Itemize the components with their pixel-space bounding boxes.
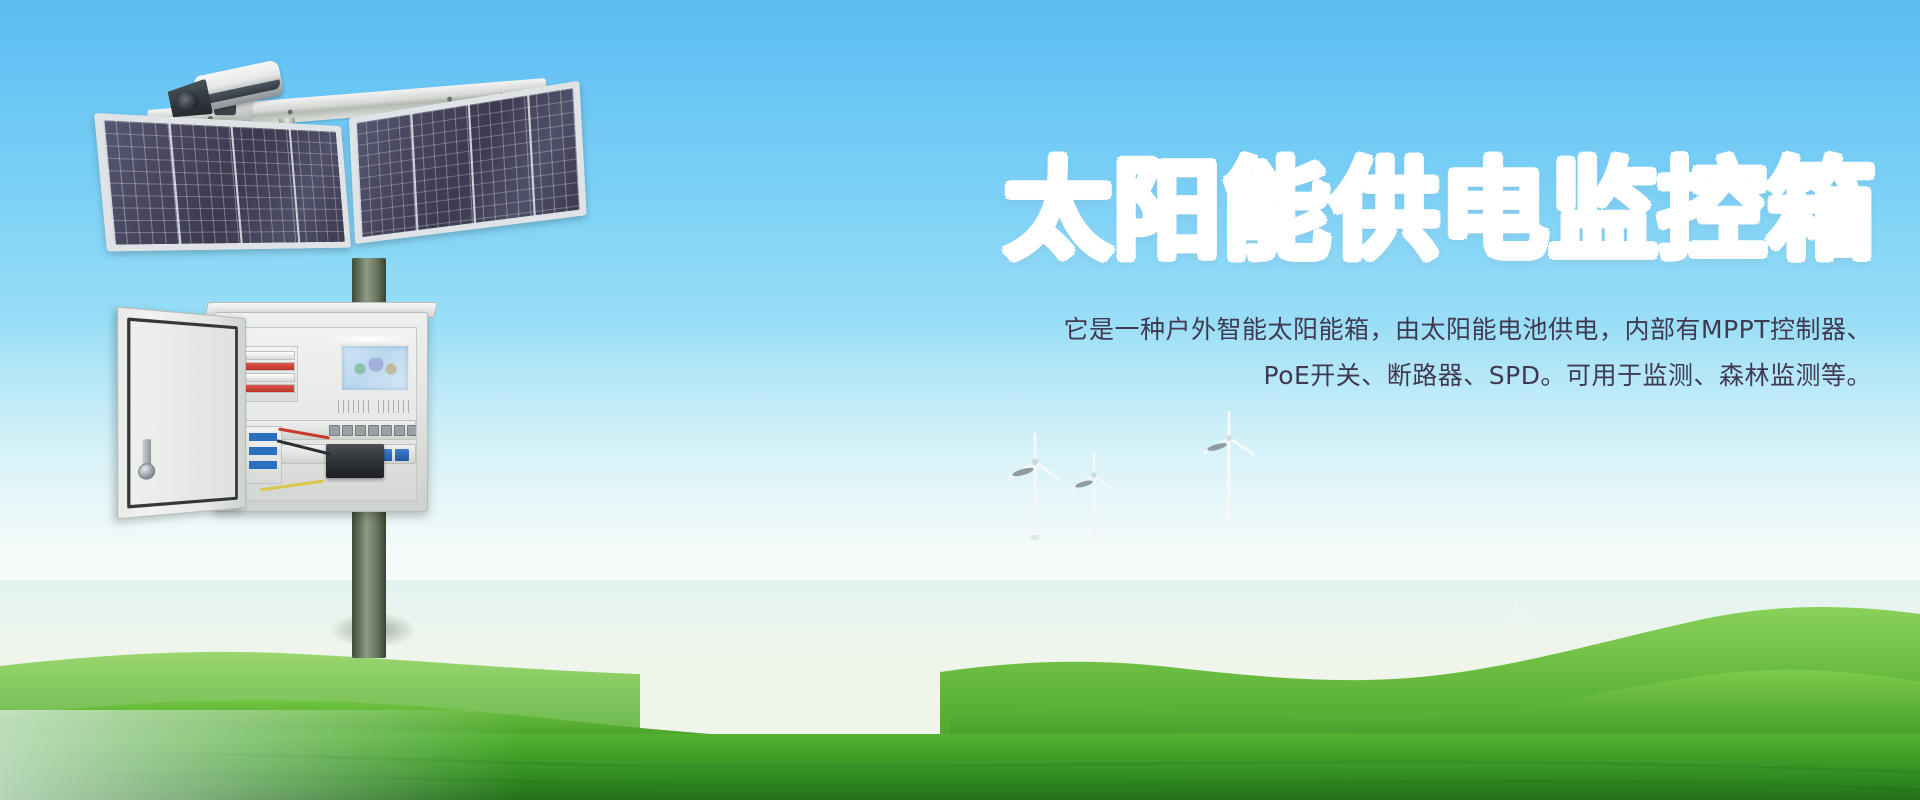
mppt-controller-display <box>340 344 410 392</box>
banner-subtitle: 它是一种户外智能太阳能箱，由太阳能电池供电，内部有MPPT控制器、 PoE开关、… <box>660 307 1880 399</box>
interior-light <box>326 336 410 342</box>
circuit-breaker-block <box>240 346 298 402</box>
subtitle-line-2: PoE开关、断路器、SPD。可用于监测、森林监测等。 <box>660 353 1872 399</box>
page-title: 太阳能供电监控箱 <box>660 150 1876 273</box>
cabinet-door-panel <box>127 317 238 508</box>
solar-powered-camera-rig <box>0 0 620 700</box>
spd-module <box>242 426 282 484</box>
banner-copy: 太阳能供电监控箱 它是一种户外智能太阳能箱，由太阳能电池供电，内部有MPPT控制… <box>660 150 1880 399</box>
cabinet-enclosure <box>214 312 428 512</box>
battery-unit <box>326 444 384 478</box>
subtitle-line-1: 它是一种户外智能太阳能箱，由太阳能电池供电，内部有MPPT控制器、 <box>660 307 1872 353</box>
cabinet-lock-icon <box>138 439 155 479</box>
cabinet-interior <box>229 327 417 501</box>
solar-monitoring-cabinet-banner: 太阳能供电监控箱 它是一种户外智能太阳能箱，由太阳能电池供电，内部有MPPT控制… <box>0 0 1920 800</box>
solar-power-monitoring-cabinet <box>118 312 428 518</box>
green-terminal-block <box>378 400 412 413</box>
ethernet-ports <box>329 425 417 436</box>
lock-knob <box>138 463 155 480</box>
cabinet-door <box>117 307 246 520</box>
solar-panel-left <box>94 113 351 252</box>
solar-cells <box>102 120 345 244</box>
green-terminal-block <box>338 400 372 413</box>
